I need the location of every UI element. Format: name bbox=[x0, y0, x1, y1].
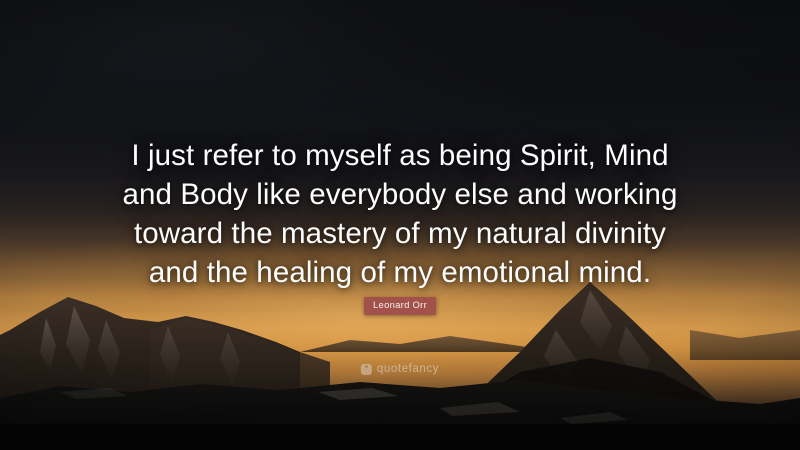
quote-poster: I just refer to myself as being Spirit, … bbox=[0, 0, 800, 450]
watermark-brand-label: quotefancy bbox=[377, 363, 439, 375]
quote-line-4: and the healing of my emotional mind. bbox=[0, 253, 800, 292]
author-badge[interactable]: Leonard Orr bbox=[364, 297, 436, 315]
watermark[interactable]: “ quotefancy bbox=[361, 363, 439, 375]
quotefancy-logo-glyph: “ bbox=[365, 366, 368, 373]
quote-line-2: and Body like everybody else and working bbox=[0, 175, 800, 214]
quotefancy-logo-icon: “ bbox=[361, 364, 372, 375]
quote-line-3: toward the mastery of my natural divinit… bbox=[0, 214, 800, 253]
quote-text-block: I just refer to myself as being Spirit, … bbox=[0, 136, 800, 292]
quote-line-1: I just refer to myself as being Spirit, … bbox=[0, 136, 800, 175]
